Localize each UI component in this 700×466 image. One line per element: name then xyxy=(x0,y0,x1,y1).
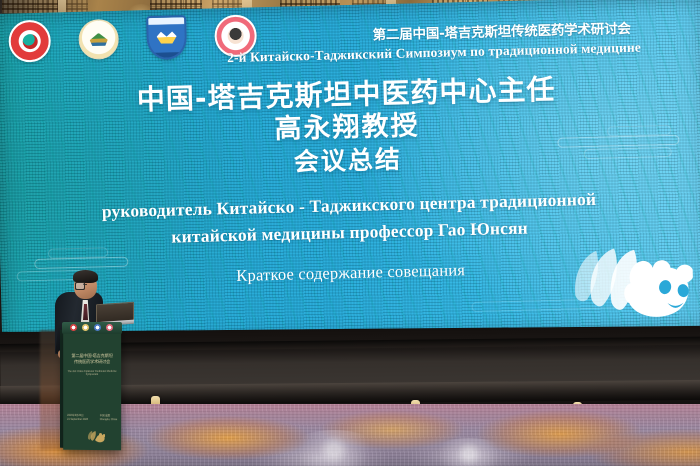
podium-date-left-2: 21 September 2023 xyxy=(67,418,88,422)
logo-gold-wreath-emblem-icon xyxy=(78,19,119,60)
podium-banner-chinese: 第二届中国-塔吉克斯坦 传统医药学术研讨会 xyxy=(63,353,121,366)
logo-red-emblem-icon xyxy=(8,20,51,63)
podium-logo-pink-icon xyxy=(106,324,113,331)
podium-panda-logo-icon xyxy=(87,430,105,443)
podium-date-right-2: Chengdu, China xyxy=(100,418,117,422)
podium: 第二届中国-塔吉克斯坦 传统医药学术研讨会 The 2nd China-Taji… xyxy=(63,328,121,451)
podium-date-row: 2023年9月20日 21 September 2023 中国 成都 Cheng… xyxy=(67,414,117,422)
podium-logo-gold-icon xyxy=(82,324,89,331)
carpet-floral-burst xyxy=(288,430,380,466)
led-presentation-screen: 第二届中国-塔吉克斯坦传统医药学术研讨会 2-й Китайско-Таджик… xyxy=(0,0,700,348)
eyeglasses-icon xyxy=(75,282,96,288)
screen-header-russian: 2-й Китайско-Таджикский Симпозиум по тра… xyxy=(227,40,641,66)
screen-header-chinese: 第二届中国-塔吉克斯坦传统医药学术研讨会 xyxy=(372,17,631,44)
panda-logo-icon xyxy=(566,240,694,325)
podium-banner-english: The 2nd China-Tajikistan Traditional Med… xyxy=(63,370,121,376)
screen-logo-row xyxy=(8,13,257,63)
podium-logo-blue-icon xyxy=(94,324,101,331)
podium-logo-row xyxy=(70,324,113,331)
podium-banner-line2: 传统医药学术研讨会 xyxy=(63,359,121,366)
carpet-floral-burst xyxy=(430,438,508,466)
logo-blue-shield-emblem-icon xyxy=(146,15,187,60)
podium-logo-red-icon xyxy=(70,324,77,331)
conference-photo: 第二届中国-塔吉克斯坦传统医药学术研讨会 2-й Китайско-Таджик… xyxy=(0,0,700,466)
